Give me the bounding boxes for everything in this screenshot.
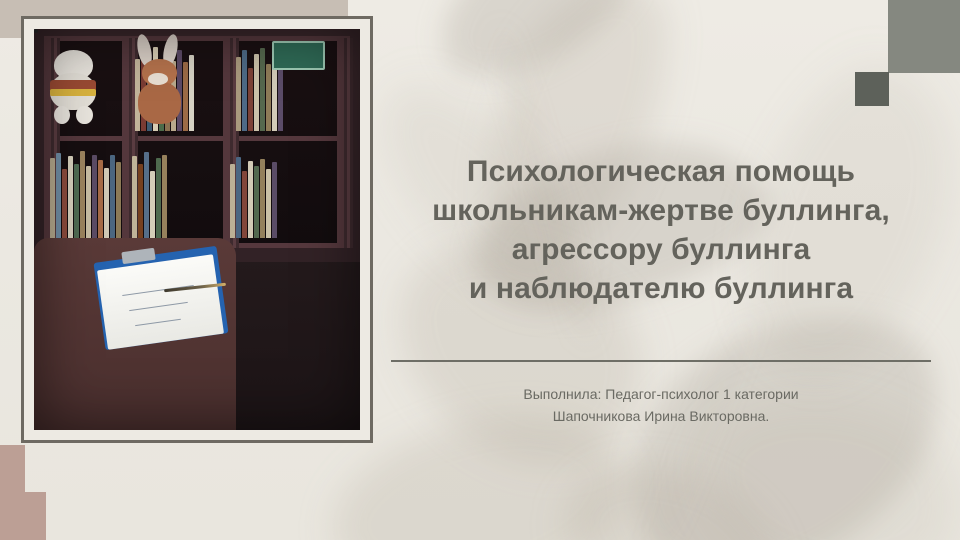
top-right-rectangle — [888, 0, 960, 73]
photo-frame — [21, 16, 373, 443]
title-line-3: агрессору буллинга — [391, 230, 931, 269]
photo-image — [34, 29, 360, 430]
title-line-1: Психологическая помощь — [391, 152, 931, 191]
author-block: Выполнила: Педагог-психолог 1 категории … — [391, 384, 931, 427]
bottom-left-wide-bar — [0, 492, 46, 540]
author-line-2: Шапочникова Ирина Викторовна. — [391, 406, 931, 428]
page-title: Психологическая помощь школьникам-жертве… — [391, 152, 931, 308]
title-line-4: и наблюдателю буллинга — [391, 269, 931, 308]
title-divider — [391, 360, 931, 362]
top-right-small-square — [855, 72, 889, 106]
title-slide: Психологическая помощь школьникам-жертве… — [0, 0, 960, 540]
author-line-1: Выполнила: Педагог-психолог 1 категории — [391, 384, 931, 406]
title-line-2: школьникам-жертве буллинга, — [391, 191, 931, 230]
